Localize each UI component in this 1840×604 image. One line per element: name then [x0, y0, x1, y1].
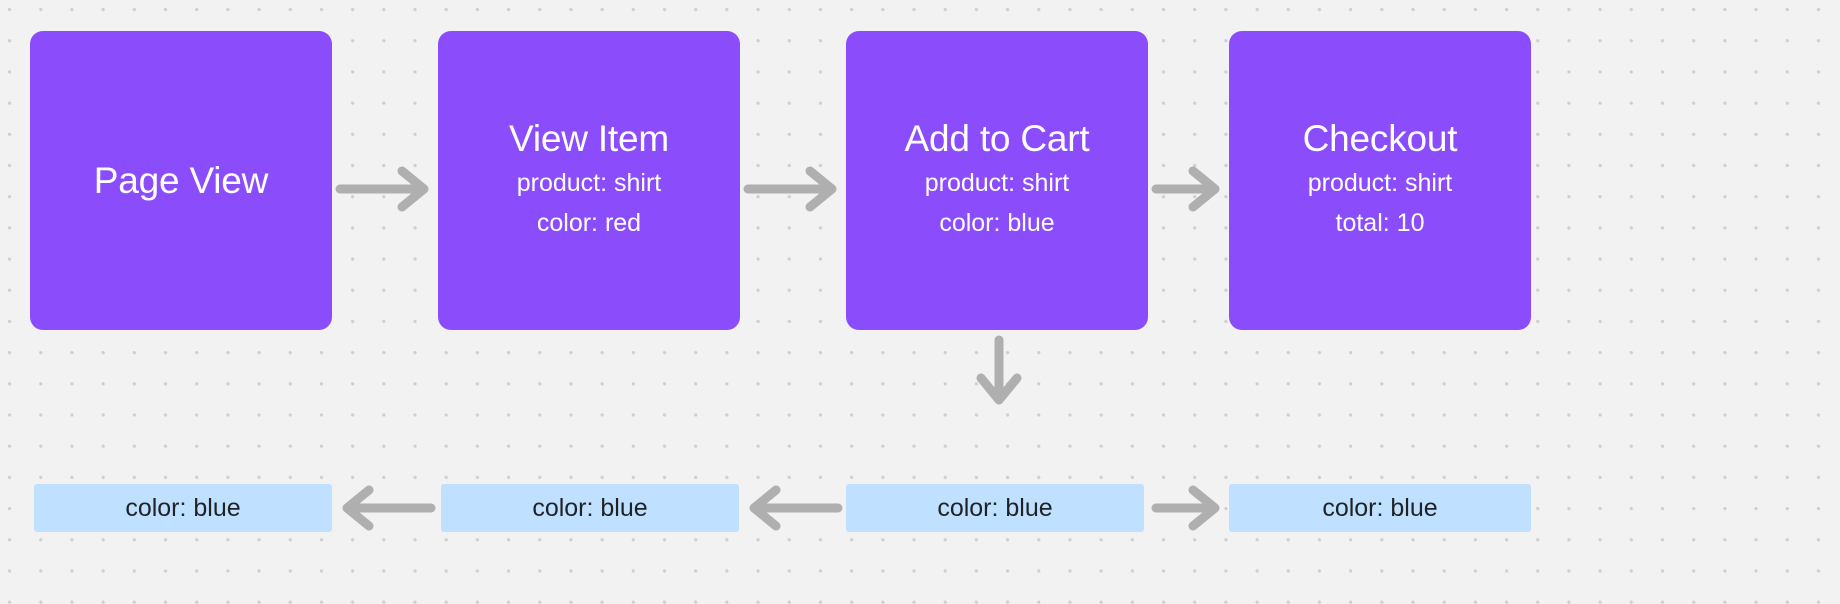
event-node-property: product: shirt: [1308, 163, 1453, 204]
property-node-4[interactable]: color: blue: [1229, 484, 1531, 532]
property-node-label: color: blue: [1322, 496, 1437, 521]
event-node-properties: product: shirt color: red: [517, 163, 662, 244]
flow-canvas[interactable]: Page View View Item product: shirt color…: [0, 0, 1840, 604]
property-node-label: color: blue: [937, 496, 1052, 521]
event-node-title: Add to Cart: [905, 117, 1090, 161]
event-node-property: color: red: [537, 203, 641, 244]
arrow-property-3-to-property-4: [1152, 481, 1225, 535]
event-node-title: Page View: [94, 159, 268, 203]
event-node-page-view[interactable]: Page View: [30, 31, 332, 330]
property-node-2[interactable]: color: blue: [441, 484, 739, 532]
event-node-property: total: 10: [1336, 203, 1425, 244]
property-node-label: color: blue: [532, 496, 647, 521]
property-node-label: color: blue: [125, 496, 240, 521]
event-node-property: product: shirt: [925, 163, 1070, 204]
arrow-property-3-to-property-2: [744, 481, 842, 535]
property-node-1[interactable]: color: blue: [34, 484, 332, 532]
arrow-add-to-cart-to-property: [970, 336, 1028, 410]
event-node-properties: product: shirt total: 10: [1308, 163, 1453, 244]
event-node-view-item[interactable]: View Item product: shirt color: red: [438, 31, 740, 330]
event-node-property: product: shirt: [517, 163, 662, 204]
arrow-add-to-cart-to-checkout: [1152, 162, 1225, 216]
arrow-page-view-to-view-item: [336, 162, 434, 216]
event-node-property: color: blue: [939, 203, 1054, 244]
event-node-checkout[interactable]: Checkout product: shirt total: 10: [1229, 31, 1531, 330]
event-node-title: View Item: [509, 117, 669, 161]
property-node-3[interactable]: color: blue: [846, 484, 1144, 532]
event-node-title: Checkout: [1303, 117, 1458, 161]
arrow-view-item-to-add-to-cart: [744, 162, 842, 216]
event-node-properties: product: shirt color: blue: [925, 163, 1070, 244]
event-node-add-to-cart[interactable]: Add to Cart product: shirt color: blue: [846, 31, 1148, 330]
arrow-property-2-to-property-1: [337, 481, 435, 535]
